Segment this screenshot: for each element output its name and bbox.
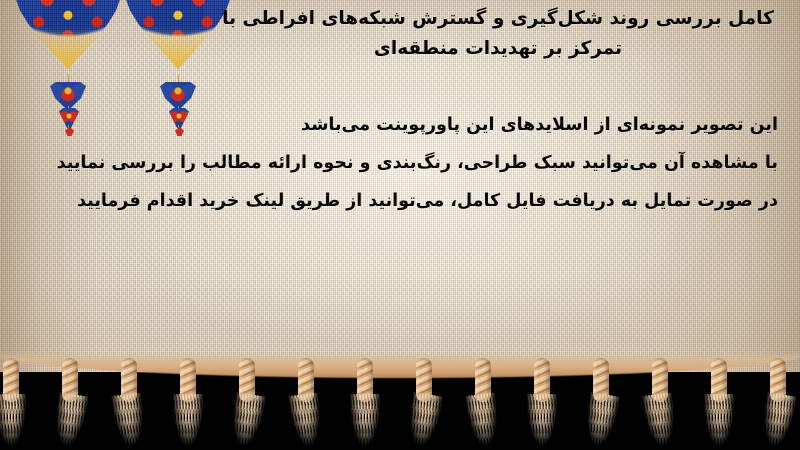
fringe-tassel [761, 358, 795, 450]
slide-body-line-1: این تصویر نمونه‌ای از اسلایدهای این پاور… [20, 106, 778, 144]
slide-title-line-2: تمرکز بر تهدیدات منطقه‌ای [218, 34, 778, 64]
fringe-tassel [112, 358, 146, 450]
fringe-brush [759, 392, 797, 448]
carpet-medallion-left-ornament [16, 0, 120, 78]
fringe-tassel [584, 358, 618, 450]
carpet-fringe [0, 358, 800, 450]
slide-title: کامل بررسی روند شکل‌گیری و گسترش شبکه‌ها… [218, 4, 778, 64]
slide-body-text: این تصویر نمونه‌ای از اسلایدهای این پاور… [20, 106, 778, 220]
carpet-medallion-right-ornament [126, 0, 230, 78]
slide-title-line-1: کامل بررسی روند شکل‌گیری و گسترش شبکه‌ها… [218, 4, 778, 34]
fringe-brush [288, 392, 324, 447]
fringe-tassel [702, 358, 736, 450]
medallion-gold-outline [126, 0, 230, 78]
fringe-tassel [0, 358, 28, 450]
fringe-brush [111, 392, 147, 447]
fringe-tassel [525, 358, 559, 450]
slide-body-line-3: در صورت تمایل به دریافت فایل کامل، می‌تو… [20, 182, 778, 220]
fringe-brush [527, 394, 557, 446]
fringe-tassel [289, 358, 323, 450]
medallion-gold-outline [16, 0, 120, 78]
fringe-tassel [171, 358, 205, 450]
fringe-tassel [230, 358, 264, 450]
fringe-tassel [407, 358, 441, 450]
fringe-brush [173, 394, 203, 446]
fringe-brush [582, 392, 620, 448]
fringe-brush [465, 392, 501, 447]
fringe-brush [51, 392, 89, 448]
fringe-brush [642, 392, 678, 447]
slide-body-line-2: با مشاهده آن می‌توانید سبک طراحی، رنگ‌بن… [20, 144, 778, 182]
fringe-brush [0, 394, 26, 446]
fringe-brush [350, 394, 380, 446]
fringe-tassel [53, 358, 87, 450]
fringe-brush [704, 394, 734, 446]
presentation-slide: کامل بررسی روند شکل‌گیری و گسترش شبکه‌ها… [0, 0, 800, 450]
fringe-tassel [643, 358, 677, 450]
fringe-brush [405, 392, 443, 448]
fringe-tassel [348, 358, 382, 450]
fringe-brush [228, 392, 266, 448]
fringe-tassel [466, 358, 500, 450]
